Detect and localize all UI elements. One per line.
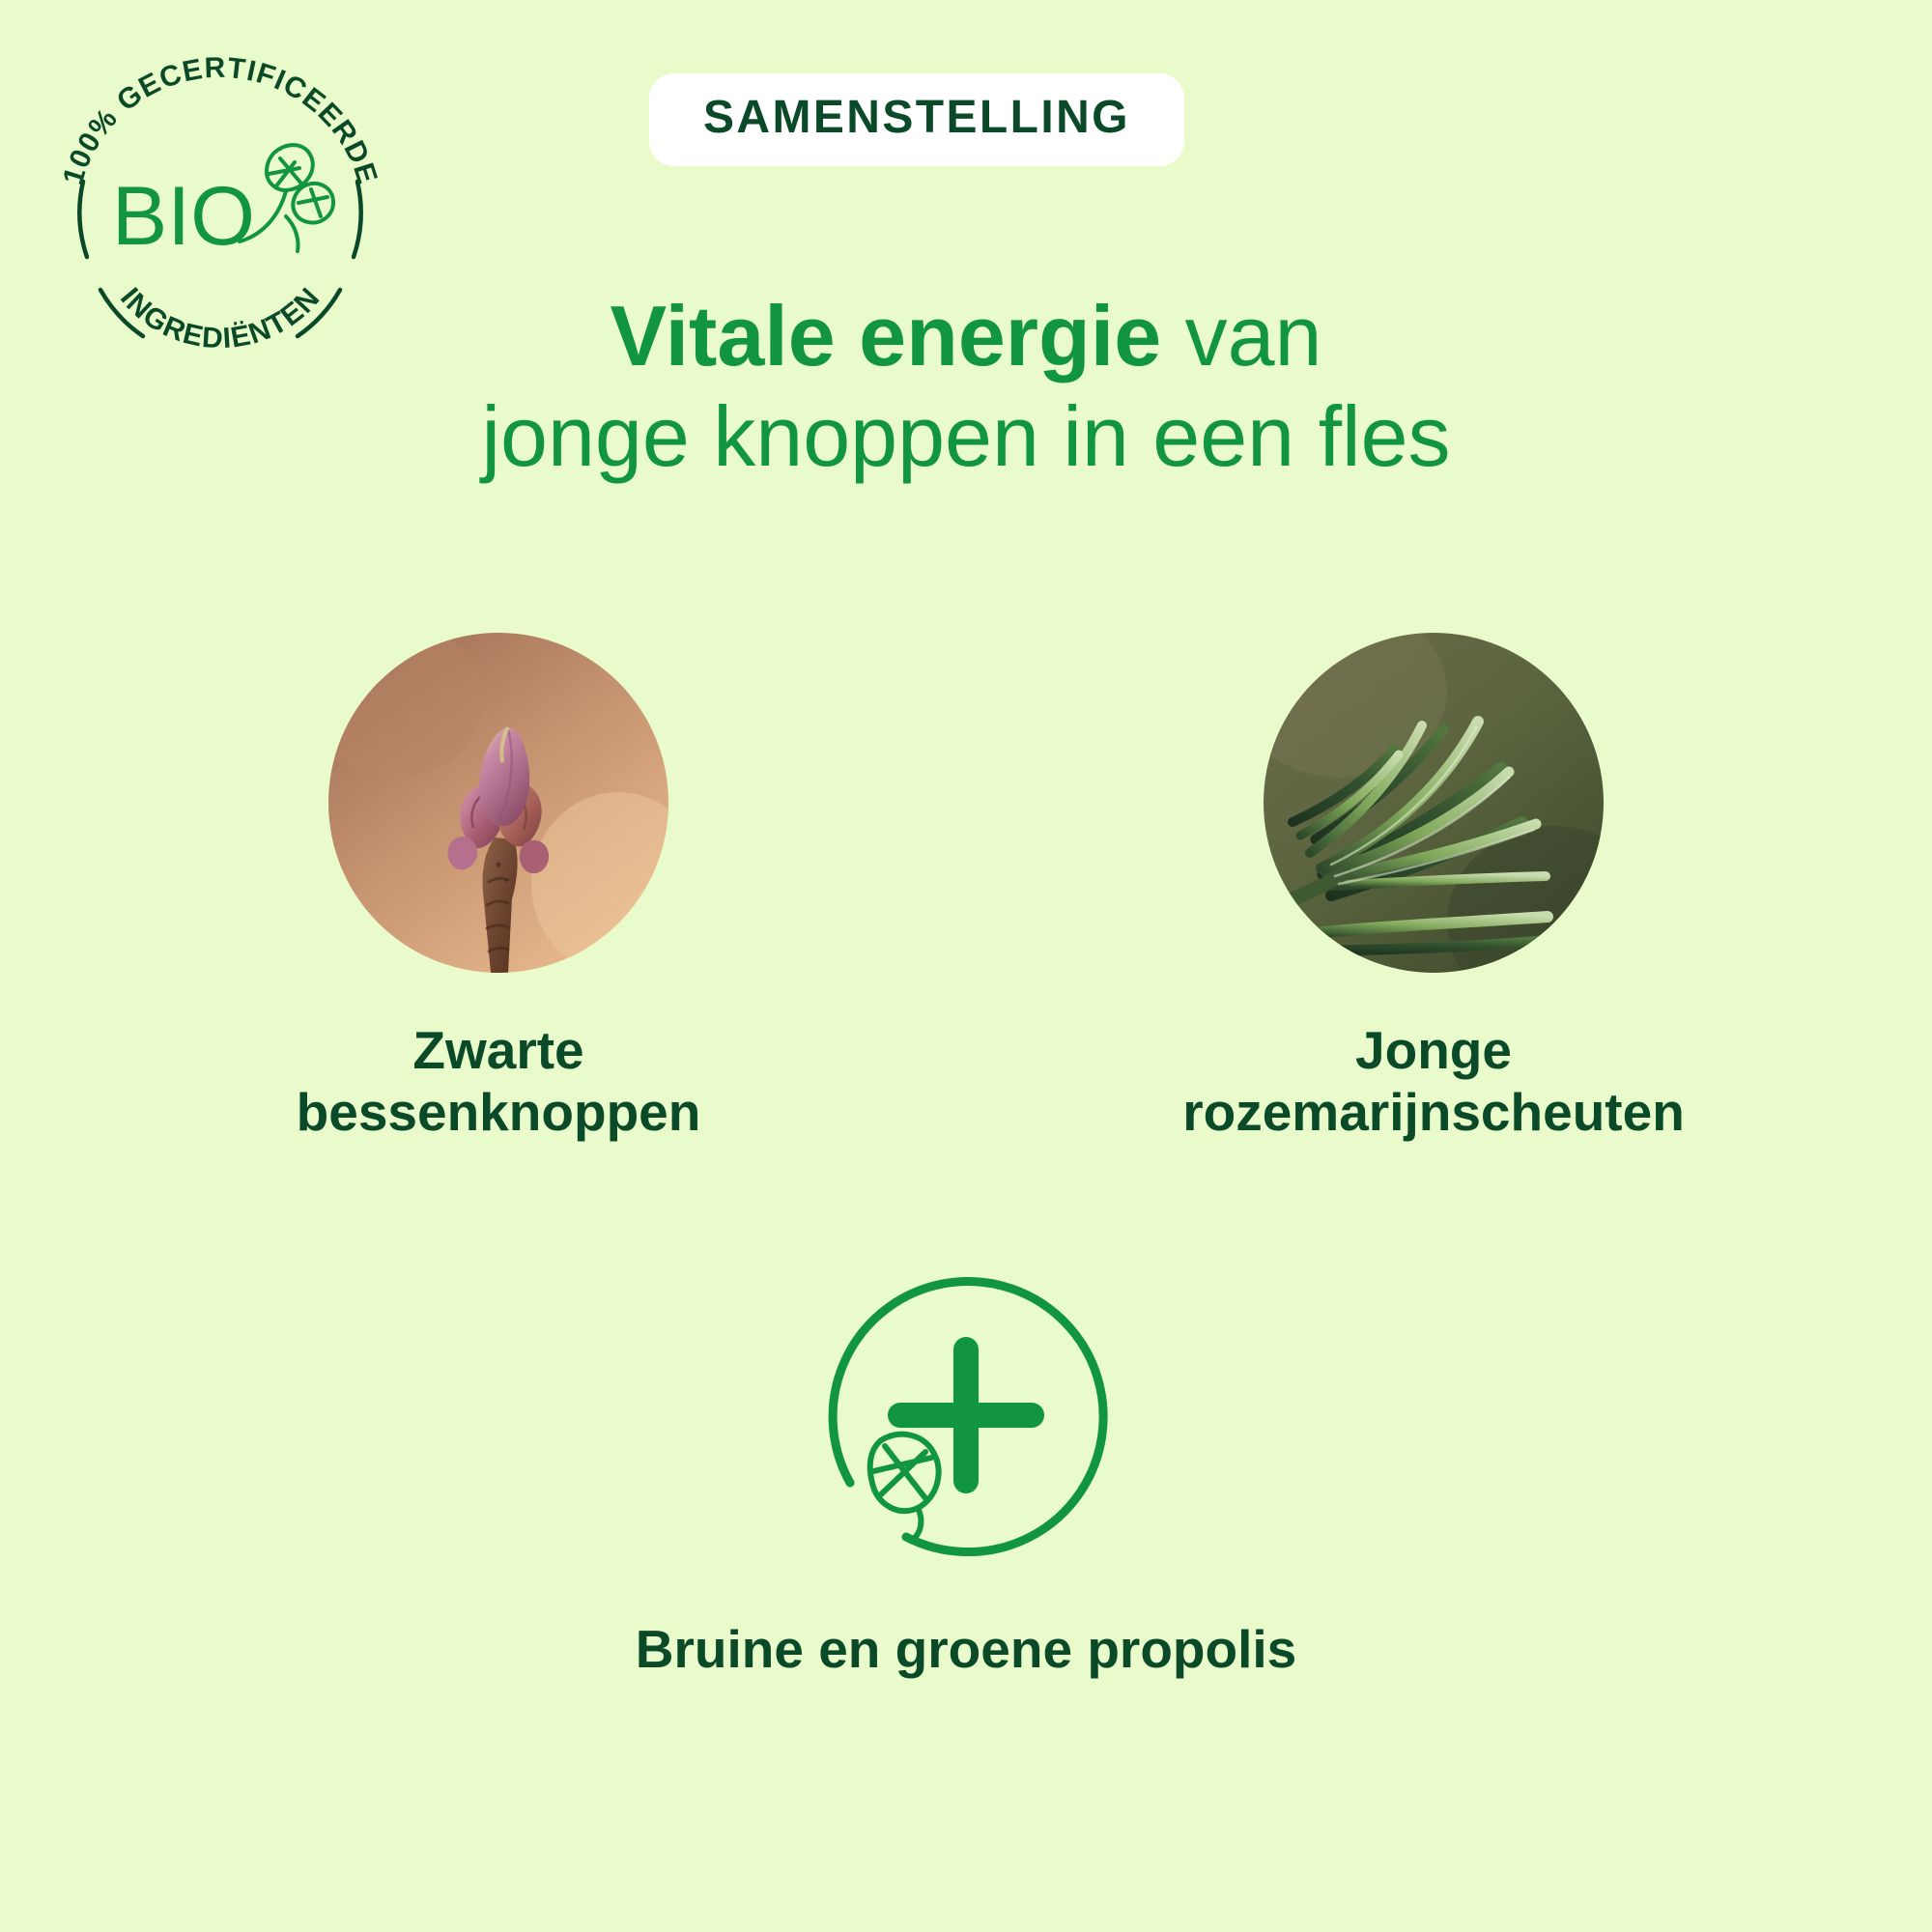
headline-strong: Vitale energie <box>610 288 1161 384</box>
ingredient-caption: Jonge rozemarijnscheuten <box>1182 1019 1685 1144</box>
ingredient-rosemary-shoots: Jonge rozemarijnscheuten <box>1207 633 1661 1144</box>
headline-light: van <box>1161 288 1321 384</box>
badge-bio-text: BIO <box>112 170 255 263</box>
infographic-page: 100% GECERTIFICEERDE INGREDIËNTEN BIO SA… <box>0 0 1932 1932</box>
page-title: Vitale energie van jonge knoppen in een … <box>0 286 1932 487</box>
ingredient-list: Zwarte bessenknoppen <box>0 633 1932 1144</box>
samenstelling-pill: SAMENSTELLING <box>649 73 1184 166</box>
propolis-block: Bruine en groene propolis <box>0 1241 1932 1680</box>
ingredient-caption: Zwarte bessenknoppen <box>297 1019 701 1144</box>
samenstelling-label: SAMENSTELLING <box>703 95 1130 141</box>
propolis-caption: Bruine en groene propolis <box>636 1618 1297 1680</box>
headline-line-1: Vitale energie van <box>106 286 1826 386</box>
badge-top-arc-text: 100% GECERTIFICEERDE <box>57 52 384 188</box>
rosemary-shoot-photo <box>1264 633 1604 973</box>
blackcurrant-bud-photo <box>328 633 668 973</box>
leaf-bud-ornament <box>870 1435 939 1539</box>
badge-ring-right <box>354 182 361 257</box>
headline-line-2: jonge knoppen in een fles <box>106 386 1826 487</box>
plus-circle-leaf-icon <box>792 1241 1140 1589</box>
badge-ring-left <box>79 182 87 257</box>
ingredient-blackcurrant-buds: Zwarte bessenknoppen <box>271 633 725 1144</box>
